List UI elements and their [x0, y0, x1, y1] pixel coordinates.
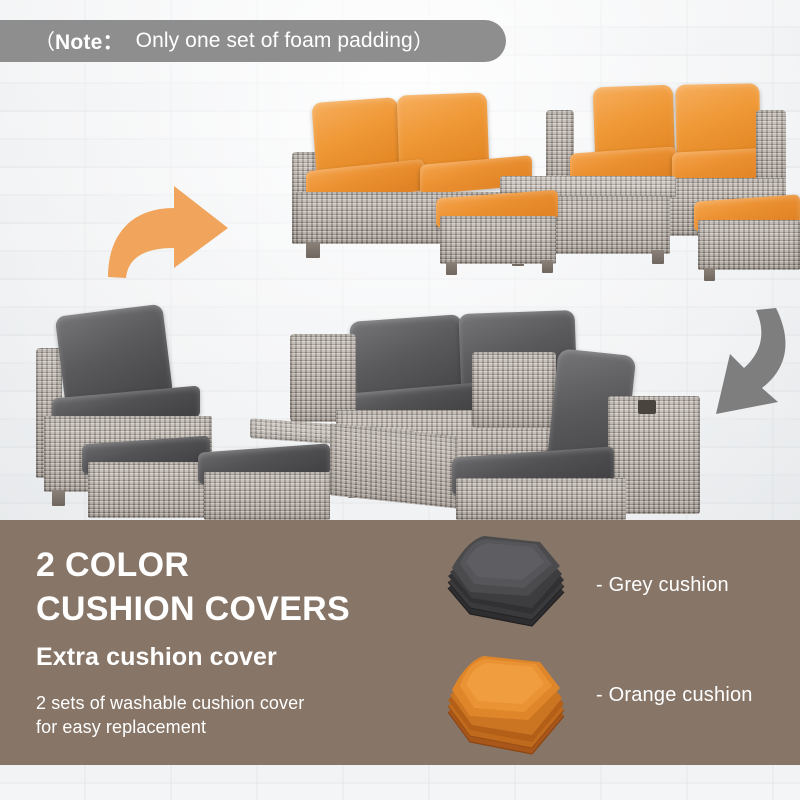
corner-chair-base	[456, 478, 626, 520]
legend-label-orange-cushion: - Orange cushion	[596, 684, 753, 707]
note-open-paren: （	[34, 26, 55, 56]
loveseat-grey-armrest-left	[290, 334, 356, 422]
body-copy: 2 sets of washable cushion cover for eas…	[36, 692, 304, 740]
grey-ottoman-base-1	[88, 462, 210, 518]
grey-ottoman-base-2	[204, 472, 330, 520]
corner-chair-handle	[638, 400, 656, 414]
note-label: Note：	[55, 26, 124, 56]
ottoman-base-1	[440, 216, 556, 264]
coffee-table-leg-2	[652, 250, 664, 264]
body-copy-line-2: for easy replacement	[36, 716, 304, 740]
note-text: Only one set of foam padding	[136, 29, 413, 53]
note-banner: （ Note： Only one set of foam padding ）	[0, 20, 506, 62]
chair-leg-1	[52, 490, 65, 506]
loveseat-leg-1	[306, 242, 320, 258]
headline-line-2: CUSHION COVERS	[36, 592, 350, 626]
ottoman-leg-2	[542, 260, 553, 273]
grey-table-body	[330, 423, 458, 508]
arrow-right-orange-icon	[104, 180, 232, 280]
arrow-down-left-grey-icon	[704, 306, 790, 418]
legend-label-grey-cushion: - Grey cushion	[596, 574, 729, 597]
subheadline: Extra cushion cover	[36, 645, 277, 670]
ottoman-leg-1	[446, 262, 457, 275]
headline-line-1: 2 COLOR	[36, 548, 189, 582]
note-close-paren: ）	[413, 26, 434, 56]
ottoman-base-2	[698, 220, 800, 270]
grey-cover-stack	[436, 530, 572, 634]
ottoman-leg-3	[704, 268, 715, 281]
product-infographic: （ Note： Only one set of foam padding ） 2…	[0, 0, 800, 800]
corner-chair-armrest-left	[472, 352, 556, 428]
body-copy-line-1: 2 sets of washable cushion cover	[36, 692, 304, 716]
orange-cover-stack	[436, 648, 572, 760]
